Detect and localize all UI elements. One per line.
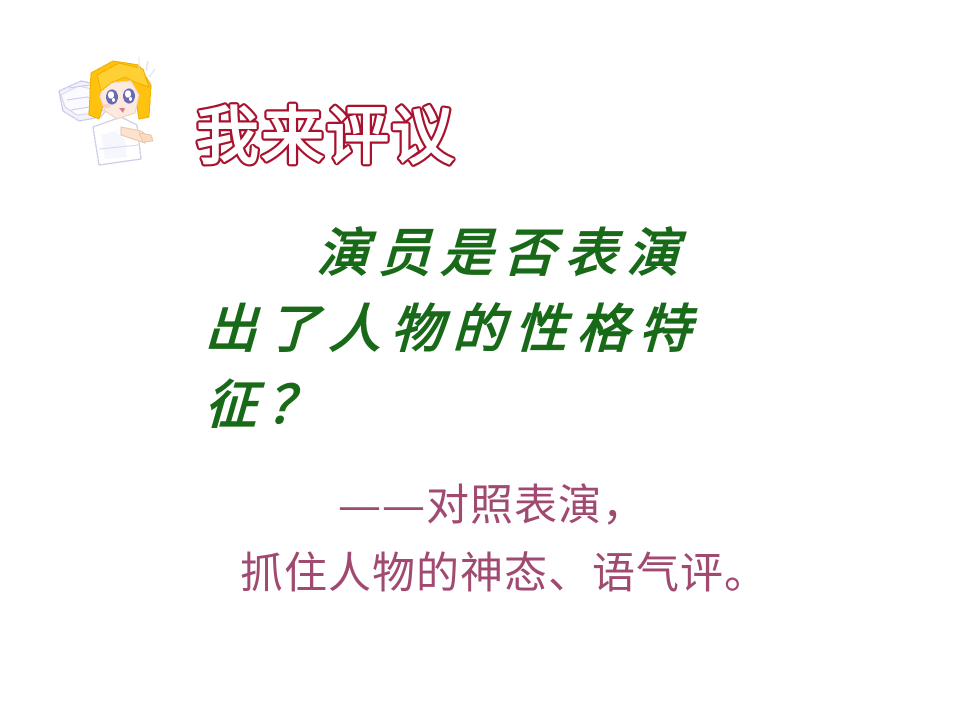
page-title: 我来评议 (196, 98, 496, 176)
note-line-1: ——对照表演， (240, 472, 920, 540)
angel-girl-icon (55, 55, 170, 175)
page-title-text: 我来评议 (196, 100, 456, 173)
angel-dress-shape (93, 117, 141, 165)
question-line-2: 出了人物的性格特 (204, 292, 827, 368)
question-text-block: 演员是否表演 出了人物的性格特 征？ (205, 216, 825, 444)
question-line-1: 演员是否表演 (204, 216, 827, 292)
slide-canvas: 我来评议 演员是否表演 出了人物的性格特 征？ ——对照表演， 抓住人物的神态、… (0, 0, 960, 720)
note-line-2: 抓住人物的神态、语气评。 (240, 540, 920, 608)
angel-cheek-shape (104, 104, 111, 108)
question-line-3: 征？ (204, 368, 827, 444)
note-text-block: ——对照表演， 抓住人物的神态、语气评。 (240, 472, 920, 608)
